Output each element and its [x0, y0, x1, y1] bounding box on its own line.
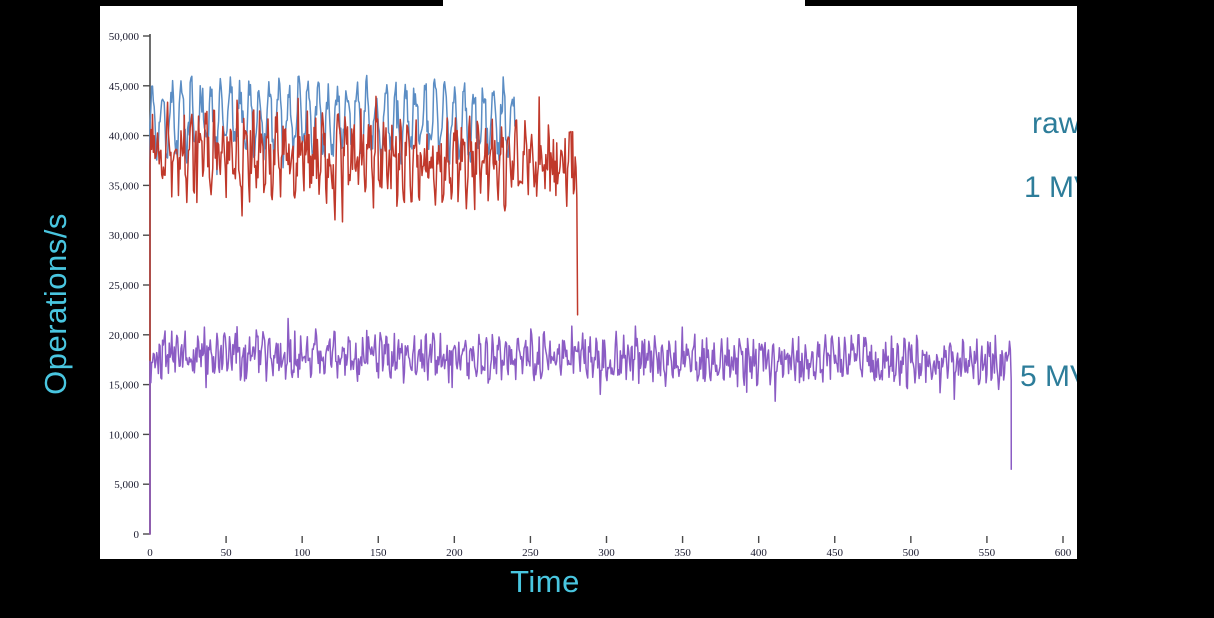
x-tick-label: 400	[750, 547, 767, 559]
series-line-1-mv	[150, 96, 578, 534]
x-tick-label: 50	[221, 547, 233, 559]
series-label-5mv: 5 MV	[1020, 360, 1077, 394]
series-label-1mv: 1 MV	[1024, 171, 1077, 205]
x-tick-label: 100	[294, 547, 311, 559]
y-tick-label: 30,000	[109, 230, 140, 242]
y-tick-label: 10,000	[109, 429, 140, 441]
y-tick-label: 40,000	[109, 131, 140, 143]
series-group	[150, 75, 1011, 534]
series-annotations: raw 1 MV 5 MV	[1000, 0, 1077, 618]
series-line-5-mv	[150, 318, 1011, 534]
x-tick-label: 200	[446, 547, 463, 559]
y-tick-label: 20,000	[109, 330, 140, 342]
x-tick-label: 450	[827, 547, 844, 559]
x-tick-label: 250	[522, 547, 539, 559]
x-axis-title: Time	[0, 564, 1090, 600]
x-tick-label: 550	[979, 547, 996, 559]
y-tick-label: 35,000	[109, 180, 140, 192]
x-tick-label: 350	[674, 547, 691, 559]
x-tick-label: 300	[598, 547, 615, 559]
y-tick-label: 25,000	[109, 280, 140, 292]
y-tick-label: 5,000	[114, 479, 139, 491]
series-label-raw: raw	[1032, 107, 1077, 141]
y-tick-label: 0	[134, 529, 140, 541]
y-tick-label: 15,000	[109, 380, 140, 392]
x-tick-label: 150	[370, 547, 387, 559]
x-tick-label: 0	[147, 547, 153, 559]
y-tick-label: 45,000	[109, 81, 140, 93]
y-axis-title: Operations/s	[38, 204, 74, 404]
x-tick-label: 500	[903, 547, 920, 559]
chart-figure: 05,00010,00015,00020,00025,00030,00035,0…	[0, 0, 1214, 618]
y-tick-label: 50,000	[109, 31, 140, 43]
